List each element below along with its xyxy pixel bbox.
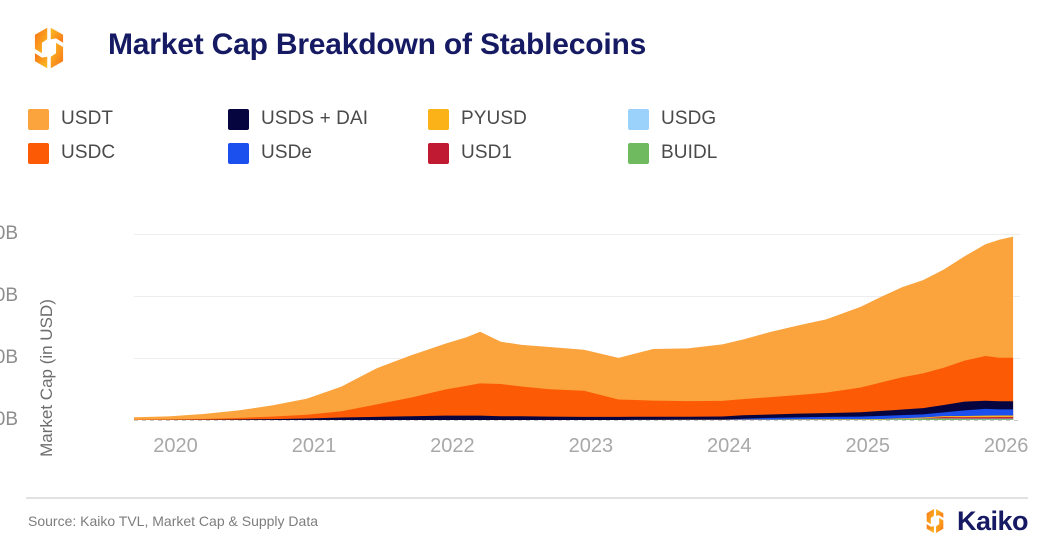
legend-item-usde[interactable]: USDe [228, 136, 428, 170]
header: Market Cap Breakdown of Stablecoins [0, 0, 1054, 88]
x-axis-tick-label: 2021 [292, 435, 337, 458]
y-axis-label: Market Cap (in USD) [37, 268, 57, 488]
legend-swatch-pyusd [428, 109, 449, 130]
x-axis-tick-label: 2025 [845, 435, 890, 458]
stacked-area-chart: Market Cap (in USD) $0B$100B$200B$300B 2… [0, 185, 1054, 485]
legend-swatch-usde [228, 143, 249, 164]
x-axis-baseline [134, 420, 1020, 421]
y-axis-tick-label: $300B [0, 223, 18, 245]
footer-divider [26, 497, 1028, 499]
legend-label-usdc: USDC [61, 142, 115, 164]
x-axis-tick-label: 2026 [984, 435, 1029, 458]
x-axis-tick-label: 2020 [153, 435, 198, 458]
legend-swatch-usds-dai [228, 109, 249, 130]
chart-legend: USDT USDC USDS + DAI USDe PYUSD [28, 102, 788, 170]
legend-item-pyusd[interactable]: PYUSD [428, 102, 628, 136]
legend-item-usdt[interactable]: USDT [28, 102, 228, 136]
source-text: Source: Kaiko TVL, Market Cap & Supply D… [28, 513, 318, 529]
kaiko-logo-icon [922, 508, 948, 534]
legend-item-usdg[interactable]: USDG [628, 102, 828, 136]
x-axis-tick-label: 2024 [707, 435, 752, 458]
legend-item-buidl[interactable]: BUIDL [628, 136, 828, 170]
footer-logo-word: Kaiko [957, 508, 1028, 535]
legend-column: USDT USDC [28, 102, 228, 170]
plot-area [134, 215, 1020, 420]
page-title: Market Cap Breakdown of Stablecoins [108, 28, 646, 62]
legend-swatch-buidl [628, 143, 649, 164]
legend-swatch-usdc [28, 143, 49, 164]
legend-item-usds-dai[interactable]: USDS + DAI [228, 102, 428, 136]
legend-label-usde: USDe [261, 142, 312, 164]
area-series-group [134, 215, 1020, 420]
footer-logo: Kaiko [922, 506, 1028, 536]
legend-swatch-usdt [28, 109, 49, 130]
kaiko-logo-icon [27, 26, 71, 70]
legend-swatch-usdg [628, 109, 649, 130]
legend-column: PYUSD USD1 [428, 102, 628, 170]
legend-label-usds-dai: USDS + DAI [261, 108, 368, 130]
x-axis-tick-label: 2022 [430, 435, 475, 458]
legend-label-usdt: USDT [61, 108, 113, 130]
legend-label-usd1: USD1 [461, 142, 512, 164]
x-axis-tick-label: 2023 [569, 435, 614, 458]
legend-item-usdc[interactable]: USDC [28, 136, 228, 170]
y-axis-tick-label: $100B [0, 347, 18, 369]
legend-label-buidl: BUIDL [661, 142, 717, 164]
legend-item-usd1[interactable]: USD1 [428, 136, 628, 170]
legend-swatch-usd1 [428, 143, 449, 164]
legend-column: USDS + DAI USDe [228, 102, 428, 170]
y-axis-tick-label: $200B [0, 285, 18, 307]
y-axis-tick-label: $0B [0, 409, 18, 431]
legend-label-usdg: USDG [661, 108, 716, 130]
legend-column: USDG BUIDL [628, 102, 828, 170]
legend-label-pyusd: PYUSD [461, 108, 527, 130]
